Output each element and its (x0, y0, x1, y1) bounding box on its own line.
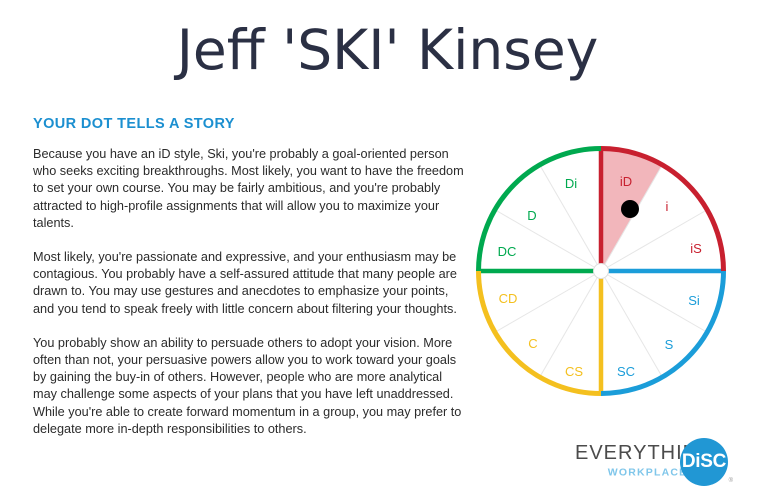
disc-circumplex-wheel: Di D DC CD C CS SC S Si iS i iD (470, 140, 730, 402)
disc-badge-text: DiSC (680, 438, 728, 486)
page-title: Jeff 'SKI' Kinsey (0, 22, 775, 80)
wheel-label-CD: CD (499, 291, 518, 306)
wheel-label-Di: Di (565, 176, 577, 191)
narrative-paragraph-3: You probably show an ability to persuade… (33, 335, 465, 438)
wheel-label-i: i (666, 199, 669, 214)
section-heading: YOUR DOT TELLS A STORY (33, 116, 465, 132)
disc-badge-icon: DiSC ® (680, 438, 728, 486)
narrative-column: YOUR DOT TELLS A STORY Because you have … (33, 116, 465, 438)
logo-wordmark: EVERYTHING WORKPLACE® (575, 443, 693, 480)
logo-workplace-text: WORKPLACE® (575, 464, 693, 480)
wheel-label-SC: SC (617, 364, 635, 379)
logo-workplace-label: WORKPLACE (608, 467, 688, 479)
wheel-label-Si: Si (688, 293, 700, 308)
everything-disc-workplace-logo: EVERYTHING WORKPLACE® DiSC ® (575, 438, 740, 488)
wheel-label-CS: CS (565, 364, 583, 379)
narrative-paragraph-1: Because you have an iD style, Ski, you'r… (33, 146, 465, 232)
wheel-label-DC: DC (498, 244, 517, 259)
wheel-label-C: C (528, 336, 537, 351)
wheel-label-D: D (527, 208, 536, 223)
wheel-label-iS: iS (690, 241, 702, 256)
logo-everything-text: EVERYTHING (575, 443, 693, 463)
disc-badge-registered-mark: ® (729, 478, 733, 484)
respondent-dot-marker (621, 200, 639, 218)
wheel-label-S: S (665, 337, 674, 352)
narrative-paragraph-2: Most likely, you're passionate and expre… (33, 249, 465, 318)
wheel-center-hub (594, 264, 609, 279)
wheel-label-iD: iD (620, 174, 632, 189)
